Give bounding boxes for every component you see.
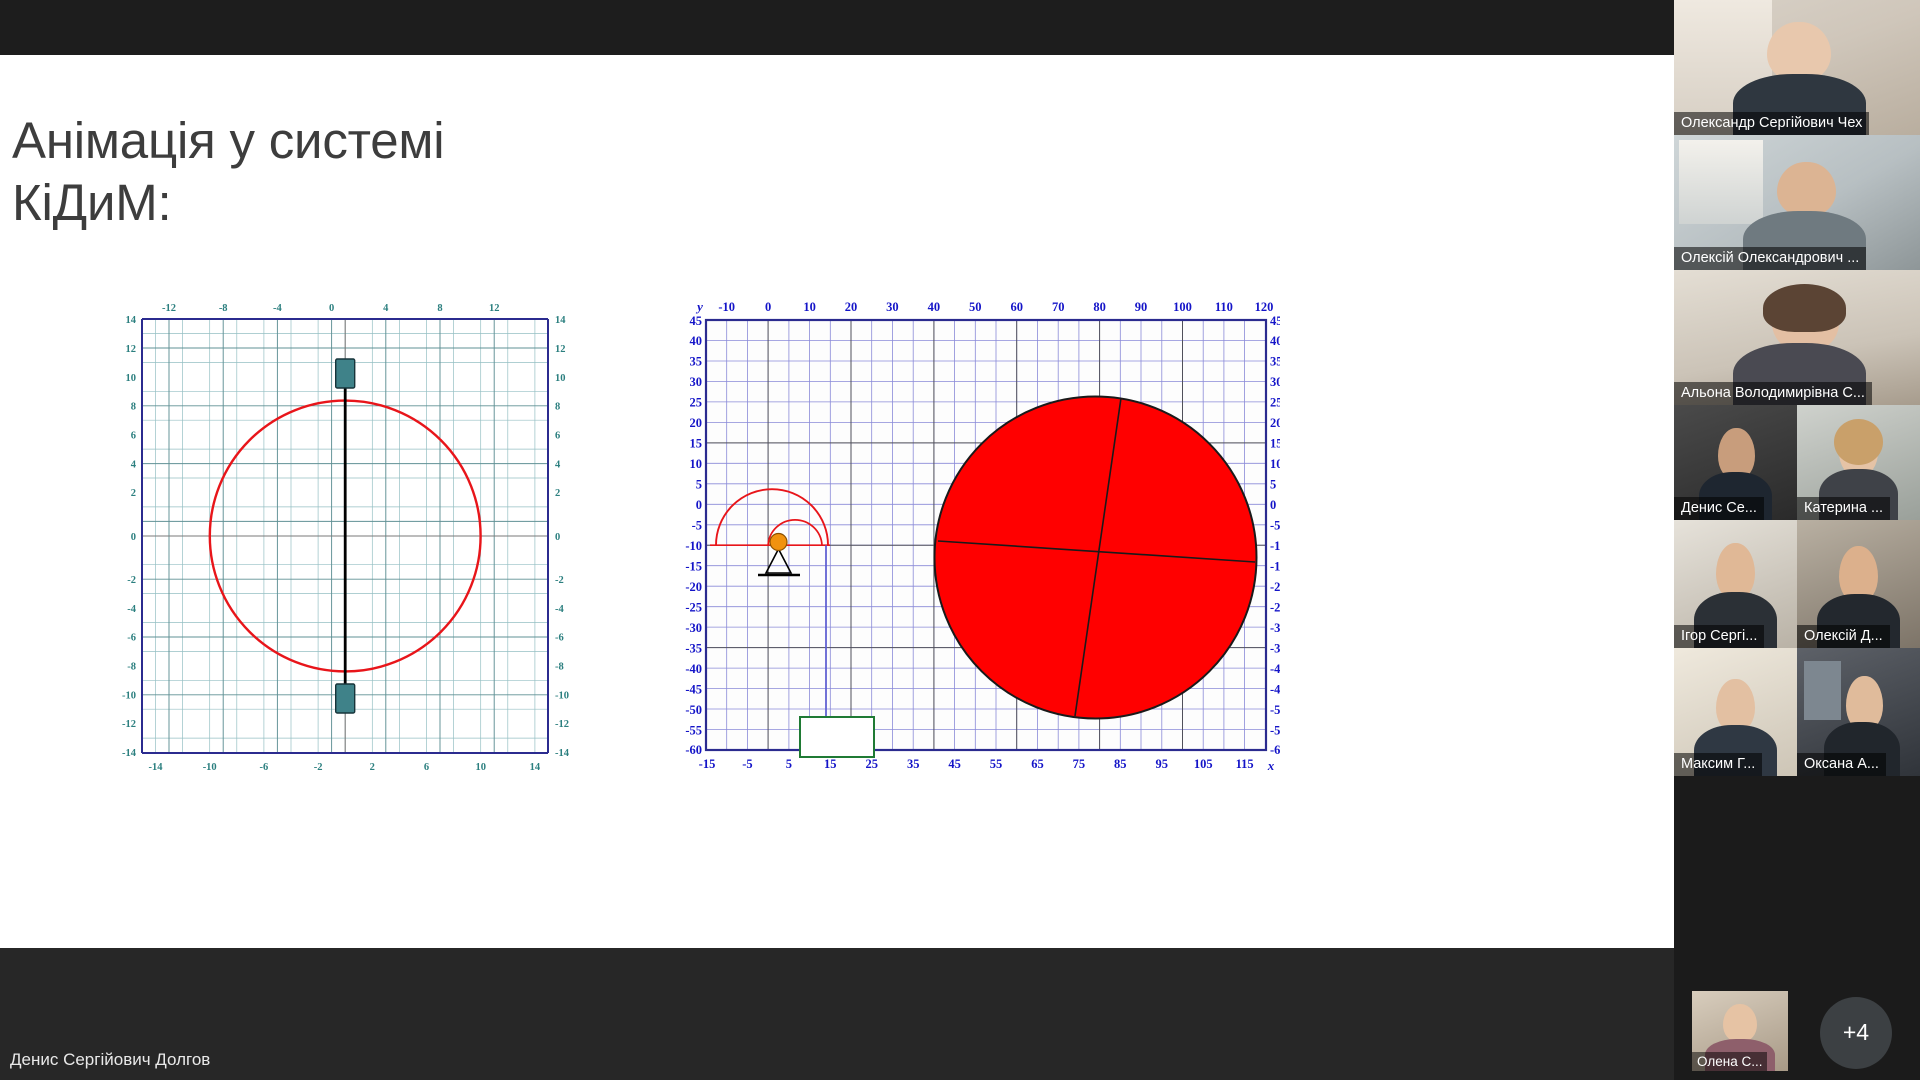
svg-text:-10: -10 [718,300,735,314]
svg-text:-15: -15 [699,757,716,771]
svg-text:80: 80 [1093,300,1106,314]
svg-text:20: 20 [690,416,703,430]
svg-text:-2: -2 [314,762,323,773]
right-plot-xticks-top: -100 1020 3040 5060 7080 90100 110120 [718,300,1273,314]
svg-text:-25: -25 [1270,601,1280,615]
svg-text:40: 40 [1270,334,1280,348]
svg-text:-10: -10 [1270,539,1280,553]
page-title: Анімація у системі КіДиМ: [12,110,652,234]
svg-text:12: 12 [126,344,137,355]
right-plot-ylabel: y [695,299,703,314]
svg-text:4: 4 [555,460,561,471]
svg-text:45: 45 [1270,314,1280,328]
left-plot-svg: -12-8 -40 48 12 -14-10 -6-2 26 1014 14 [108,291,588,781]
large-wheel [935,397,1257,719]
right-plot-yticks-left: 4540 3530 2520 1510 50 -5-10 -15-20 -25-… [685,314,702,757]
participant-tile[interactable]: Максим Г... [1674,648,1797,776]
slider-block-bottom [336,684,355,713]
svg-text:-15: -15 [685,560,702,574]
svg-text:65: 65 [1031,757,1044,771]
svg-text:5: 5 [1270,478,1276,492]
right-plot-xticks-bottom: -15-5 515 2535 4555 6575 8595 105115 [699,757,1254,771]
participant-overflow-row[interactable]: Олена С... +4 [1674,985,1920,1080]
participant-name: Денис Се... [1674,497,1764,520]
svg-text:12: 12 [489,303,500,314]
participant-tile[interactable]: Альона Володимирівна С... [1674,270,1920,405]
svg-text:-10: -10 [685,539,702,553]
svg-text:-40: -40 [685,662,702,676]
svg-text:6: 6 [555,431,560,442]
svg-text:0: 0 [696,498,702,512]
svg-text:-20: -20 [685,580,702,594]
shared-screen-stage: Анімація у системі КіДиМ: [0,0,1674,1080]
svg-text:-10: -10 [122,691,136,702]
svg-text:-10: -10 [203,762,217,773]
participant-tile[interactable]: Олексій Олександрович ... [1674,135,1920,270]
svg-text:-8: -8 [219,303,228,314]
participant-name: Олена С... [1692,1052,1767,1071]
right-kinematic-plot: y x -100 1020 3040 5060 7080 90100 11012… [660,295,1280,780]
meeting-bottom-bar [0,948,1674,1080]
svg-text:10: 10 [803,300,816,314]
svg-text:8: 8 [437,303,442,314]
participant-rail[interactable]: Олександр Сергійович Чех Олексій Олексан… [1674,0,1920,1080]
svg-text:10: 10 [690,457,703,471]
participant-row: Максим Г... Оксана А... [1674,648,1920,776]
left-plot-yticks-right: 1412 108 64 20 -2-4 -6-8 -10-12 -14 [555,315,570,759]
svg-text:-14: -14 [122,748,137,759]
svg-text:0: 0 [765,300,771,314]
svg-text:40: 40 [928,300,941,314]
svg-text:40: 40 [690,334,703,348]
svg-text:55: 55 [990,757,1003,771]
left-plot-xticks-bottom: -14-10 -6-2 26 1014 [149,762,541,773]
svg-text:0: 0 [131,532,136,543]
svg-text:6: 6 [131,431,136,442]
svg-text:15: 15 [824,757,837,771]
presenter-name-label: Денис Сергійович Долгов [10,1050,210,1070]
meeting-screen: Анімація у системі КіДиМ: [0,0,1920,1080]
svg-text:-35: -35 [1270,642,1280,656]
svg-text:20: 20 [845,300,858,314]
svg-text:14: 14 [555,315,566,326]
svg-text:-5: -5 [742,757,752,771]
svg-text:25: 25 [1270,396,1280,410]
left-plot-yticks-left: 1412 108 64 20 -2-4 -6-8 -10-12 -14 [122,315,137,759]
svg-text:2: 2 [370,762,375,773]
svg-text:-25: -25 [685,601,702,615]
svg-text:25: 25 [690,396,703,410]
rail-spacer [1674,776,1920,985]
svg-text:-50: -50 [685,703,702,717]
svg-text:95: 95 [1156,757,1169,771]
right-plot-yticks-right: 4540 3530 2520 1510 50 -5-10 -15-20 -25-… [1270,314,1280,757]
svg-text:10: 10 [1270,457,1280,471]
svg-text:10: 10 [475,762,486,773]
svg-text:100: 100 [1173,300,1192,314]
participant-name: Катерина ... [1797,497,1890,520]
participant-row: Денис Се... Катерина ... [1674,405,1920,520]
svg-text:25: 25 [865,757,878,771]
svg-text:5: 5 [696,478,702,492]
participant-tile[interactable]: Олексій Д... [1797,520,1920,648]
participant-tile[interactable]: Олександр Сергійович Чех [1674,0,1920,135]
svg-text:-6: -6 [555,633,564,644]
svg-text:14: 14 [530,762,541,773]
slide-title-line-1: Анімація у системі [12,110,652,172]
participant-name: Альона Володимирівна С... [1674,382,1872,405]
svg-text:2: 2 [555,488,560,499]
svg-text:90: 90 [1135,300,1148,314]
slide-title-line-2: КіДиМ: [12,172,652,234]
svg-text:-12: -12 [162,303,176,314]
svg-text:45: 45 [690,314,703,328]
svg-text:-15: -15 [1270,560,1280,574]
svg-text:-6: -6 [127,633,136,644]
right-plot-xlabel: x [1267,758,1275,773]
svg-text:15: 15 [1270,437,1280,451]
participant-name: Оксана А... [1797,753,1886,776]
participant-tile[interactable]: Оксана А... [1797,648,1920,776]
svg-text:-45: -45 [685,683,702,697]
svg-text:-10: -10 [555,691,569,702]
svg-text:-60: -60 [685,743,702,757]
svg-text:2: 2 [131,488,136,499]
participant-row: Ігор Сергі... Олексій Д... [1674,520,1920,648]
svg-text:-12: -12 [122,719,136,730]
participant-tile[interactable]: Ігор Сергі... [1674,520,1797,648]
svg-text:-8: -8 [555,662,564,673]
svg-text:-14: -14 [149,762,164,773]
overflow-participants-badge[interactable]: +4 [1820,997,1892,1069]
load-box [800,717,874,757]
svg-text:-45: -45 [1270,683,1280,697]
svg-text:-12: -12 [555,719,569,730]
svg-text:-14: -14 [555,748,570,759]
svg-text:20: 20 [1270,416,1280,430]
svg-text:85: 85 [1114,757,1127,771]
slider-block-top [336,359,355,388]
svg-text:-5: -5 [692,519,702,533]
svg-text:30: 30 [886,300,899,314]
participant-name: Олексій Олександрович ... [1674,247,1866,270]
participant-name: Олексій Д... [1797,625,1890,648]
svg-text:5: 5 [786,757,792,771]
pivot-joint [770,534,787,551]
svg-text:115: 115 [1236,757,1254,771]
svg-text:-55: -55 [1270,724,1280,738]
right-plot-svg: y x -100 1020 3040 5060 7080 90100 11012… [660,295,1280,780]
participant-name: Ігор Сергі... [1674,625,1764,648]
svg-text:14: 14 [126,315,137,326]
svg-text:12: 12 [555,344,566,355]
svg-text:50: 50 [969,300,982,314]
svg-text:8: 8 [555,402,560,413]
svg-text:-30: -30 [685,621,702,635]
svg-text:-4: -4 [273,303,282,314]
svg-text:-4: -4 [127,604,136,615]
svg-text:-5: -5 [1270,519,1280,533]
svg-text:0: 0 [1270,498,1276,512]
svg-text:60: 60 [1010,300,1023,314]
presentation-slide: Анімація у системі КіДиМ: [0,55,1674,948]
svg-text:45: 45 [948,757,961,771]
svg-text:105: 105 [1194,757,1213,771]
participant-name: Максим Г... [1674,753,1762,776]
svg-text:4: 4 [383,303,389,314]
svg-text:8: 8 [131,402,136,413]
svg-text:110: 110 [1215,300,1233,314]
svg-text:-8: -8 [127,662,136,673]
svg-text:-30: -30 [1270,621,1280,635]
svg-text:15: 15 [690,437,703,451]
svg-text:6: 6 [424,762,429,773]
svg-text:10: 10 [555,373,566,384]
participant-tile[interactable]: Олена С... [1692,991,1788,1071]
svg-text:-2: -2 [127,575,136,586]
svg-text:120: 120 [1255,300,1274,314]
svg-text:4: 4 [131,460,137,471]
svg-text:75: 75 [1073,757,1086,771]
participant-tile[interactable]: Денис Се... [1674,405,1797,520]
svg-text:70: 70 [1052,300,1065,314]
svg-text:-20: -20 [1270,580,1280,594]
svg-text:-50: -50 [1270,703,1280,717]
svg-text:-4: -4 [555,604,564,615]
left-kinematic-plot: -12-8 -40 48 12 -14-10 -6-2 26 1014 14 [108,291,588,781]
svg-text:10: 10 [126,373,137,384]
svg-text:30: 30 [690,375,703,389]
svg-text:-6: -6 [260,762,269,773]
svg-text:0: 0 [555,532,560,543]
svg-text:-40: -40 [1270,662,1280,676]
svg-text:35: 35 [1270,355,1280,369]
svg-text:30: 30 [1270,375,1280,389]
left-plot-xticks-top: -12-8 -40 48 12 [162,303,499,314]
participant-name: Олександр Сергійович Чех [1674,112,1869,135]
svg-text:35: 35 [690,355,703,369]
svg-text:-2: -2 [555,575,564,586]
svg-text:-35: -35 [685,642,702,656]
svg-text:35: 35 [907,757,920,771]
svg-text:-60: -60 [1270,743,1280,757]
svg-text:-55: -55 [685,724,702,738]
participant-tile[interactable]: Катерина ... [1797,405,1920,520]
svg-text:0: 0 [329,303,334,314]
